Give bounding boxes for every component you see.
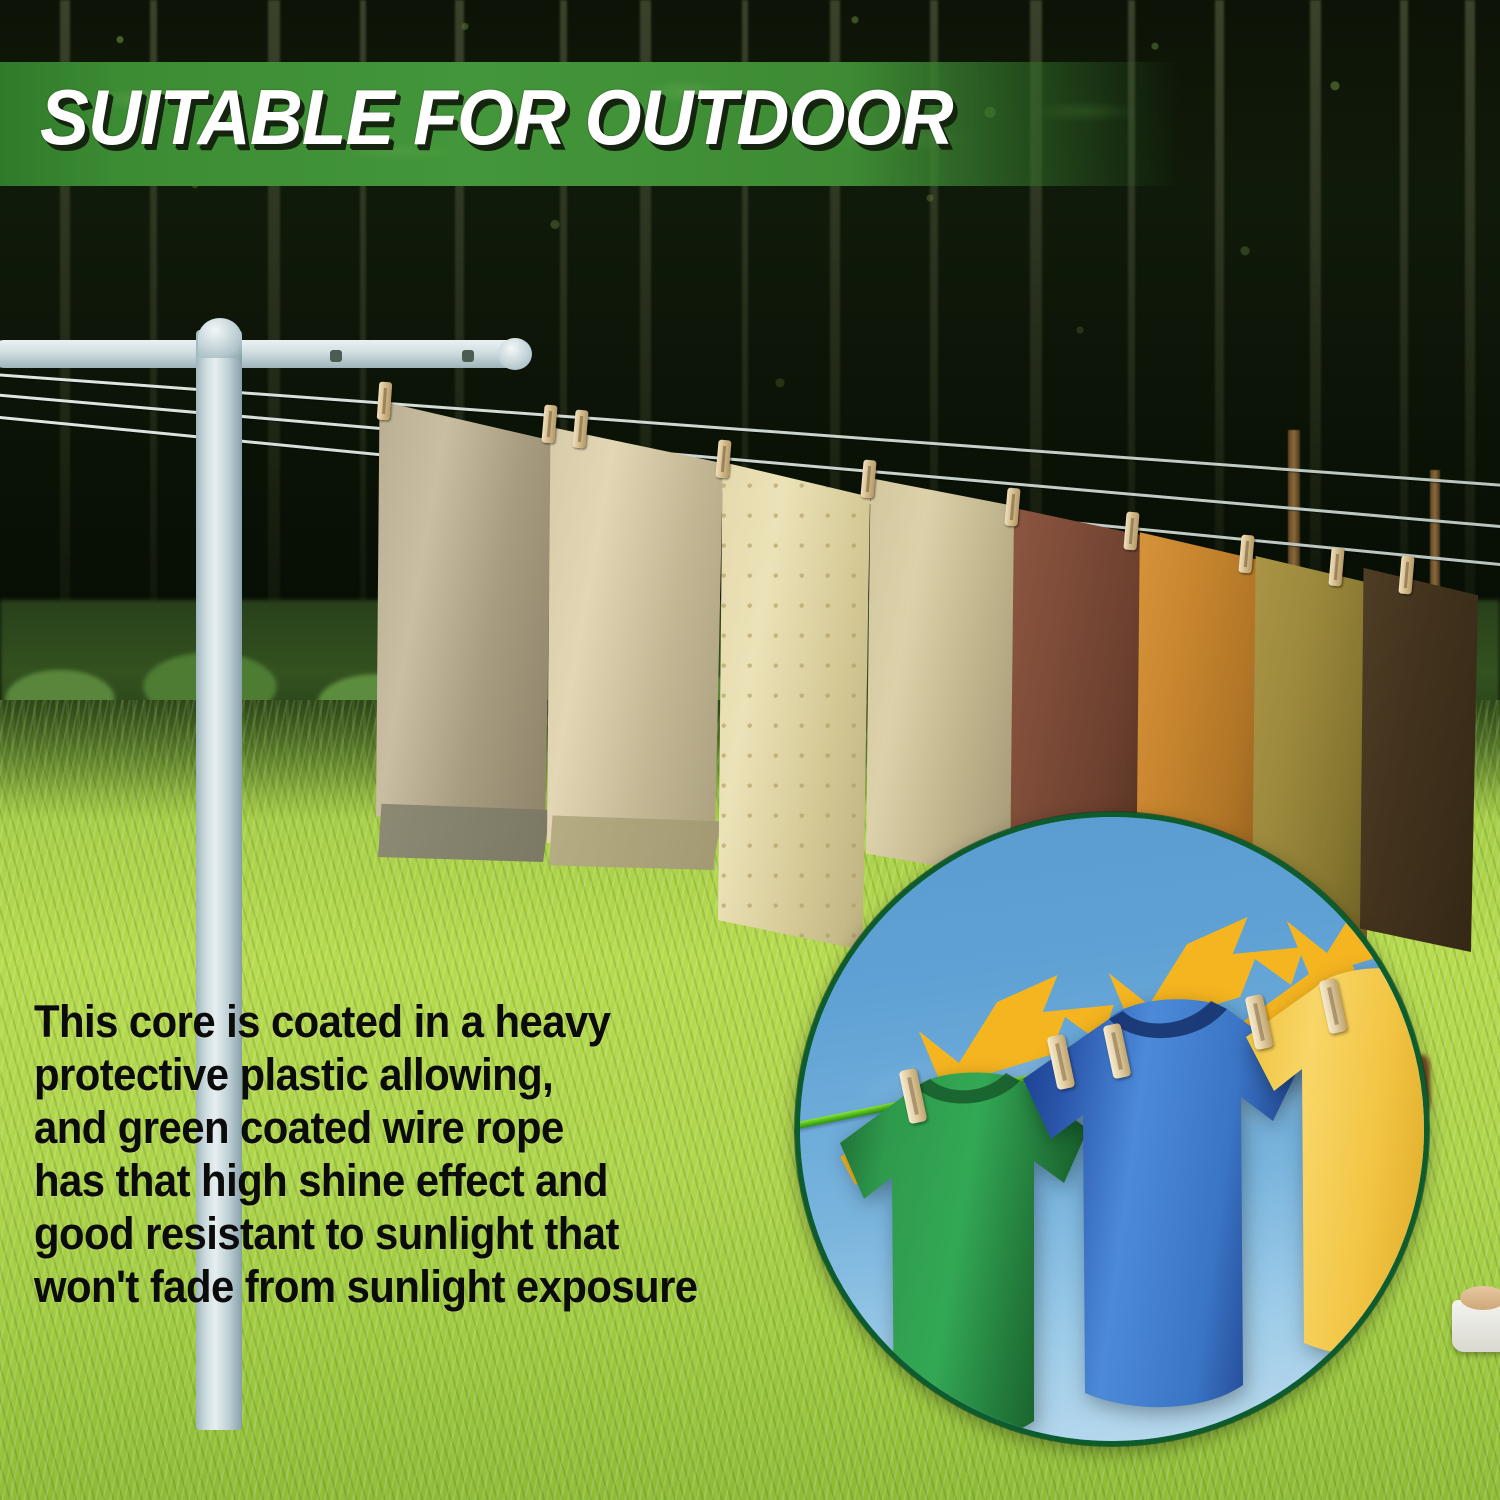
clothesline-crossarm [0,340,530,368]
towel-1 [376,392,552,834]
feature-description: This core is coated in a heavy protectiv… [34,995,722,1313]
product-feature-image: SUITABLE FOR OUTDOOR This core is coated… [0,0,1500,1500]
basket-cloth [1460,1286,1500,1310]
crossarm-nub [330,350,342,362]
laundry-basket [1452,1300,1500,1352]
towel-1-band [378,800,550,862]
pole-cap [198,318,242,358]
towel-2 [547,418,723,870]
clothespin [377,382,393,421]
crossarm-nub [462,350,474,362]
crossarm-end-cap [498,338,532,370]
header-banner: SUITABLE FOR OUTDOOR [0,62,1180,186]
towel-2-band [549,812,721,870]
banner-title: SUITABLE FOR OUTDOOR [40,78,953,156]
circular-inset-photo [795,812,1429,1446]
